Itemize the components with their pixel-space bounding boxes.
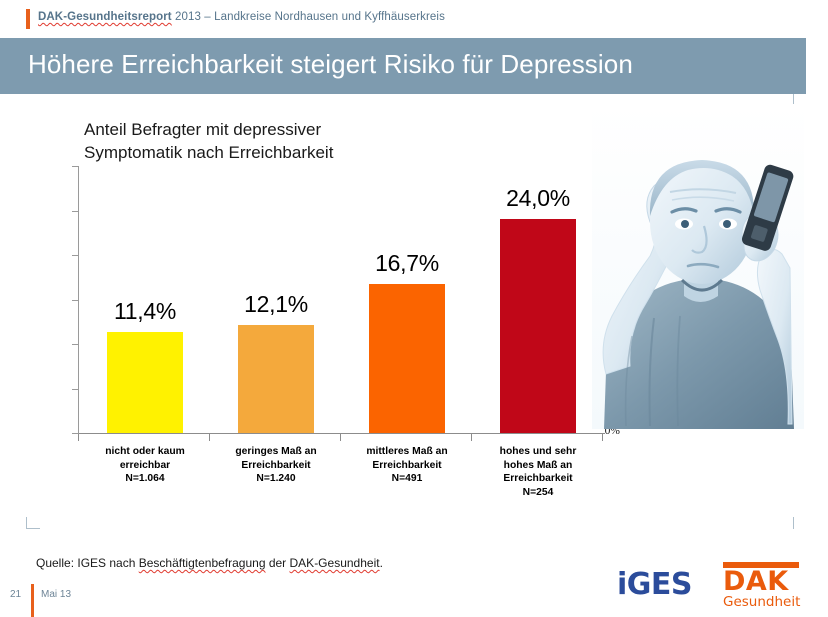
x-axis-tick-mark <box>602 434 603 441</box>
footer-accent-bar <box>31 584 34 617</box>
y-axis-tick-mark <box>72 166 79 167</box>
category-label-3: mittleres Maß an Erreichbarkeit N=491 <box>341 445 473 486</box>
page-number: 21 <box>10 589 21 600</box>
slide-canvas: DAK-Gesundheitsreport 2013 – Landkreise … <box>0 0 828 617</box>
x-axis-tick-mark <box>340 434 341 441</box>
stressed-man-on-phone-photo <box>592 104 804 429</box>
x-axis-tick-mark <box>209 434 210 441</box>
bar-value-label-4: 24,0% <box>468 185 608 212</box>
header-accent-bar <box>26 9 30 29</box>
x-axis-tick-mark <box>471 434 472 441</box>
bar-chart: Anteil Befragter mit depressiver Symptom… <box>0 100 620 530</box>
source-term-1: Beschäftigtenbefragung <box>139 556 266 570</box>
category-label-2: geringes Maß an Erreichbarkeit N=1.240 <box>210 445 342 486</box>
x-axis-tick-mark <box>78 434 79 441</box>
category-label-4: hohes und sehr hohes Maß an Erreichbarke… <box>472 445 604 499</box>
bar-value-label-1: 11,4% <box>75 298 215 325</box>
y-axis-tick-mark <box>72 211 79 212</box>
category-label-1: nicht oder kaum erreichbar N=1.064 <box>79 445 211 486</box>
bar-1 <box>107 332 183 433</box>
frame-corner-bottom-right <box>793 517 794 529</box>
source-middle: der <box>266 556 290 570</box>
source-note: Quelle: IGES nach Beschäftigtenbefragung… <box>36 556 383 570</box>
y-axis-tick-mark <box>72 344 79 345</box>
source-prefix: Quelle: IGES nach <box>36 556 139 570</box>
source-suffix: . <box>380 556 383 570</box>
bar-2 <box>238 325 314 433</box>
iges-logo: iGES <box>617 567 692 602</box>
chart-title: Anteil Befragter mit depressiver Symptom… <box>84 118 333 164</box>
dak-logo-subtext: Gesundheit <box>723 595 809 610</box>
header-title: DAK-Gesundheitsreport 2013 – Landkreise … <box>38 11 445 23</box>
x-axis-line <box>78 433 605 434</box>
bar-3 <box>369 284 445 433</box>
page-title: Höhere Erreichbarkeit steigert Risiko fü… <box>28 49 633 80</box>
y-axis-tick-mark <box>72 255 79 256</box>
y-axis-tick-mark <box>72 389 79 390</box>
slide-header: DAK-Gesundheitsreport 2013 – Landkreise … <box>0 0 828 38</box>
header-brand: DAK-Gesundheitsreport <box>38 11 172 23</box>
source-term-2: DAK-Gesundheit <box>290 556 380 570</box>
dak-logo-text: DAK <box>723 569 809 595</box>
bar-value-label-2: 12,1% <box>206 291 346 318</box>
footer-date: Mai 13 <box>41 589 71 600</box>
bar-value-label-3: 16,7% <box>337 250 477 277</box>
header-subtitle: 2013 – Landkreise Nordhausen und Kyff​hä… <box>172 11 445 23</box>
dak-logo: DAK Gesundheit <box>723 562 809 610</box>
bar-4 <box>500 219 576 433</box>
